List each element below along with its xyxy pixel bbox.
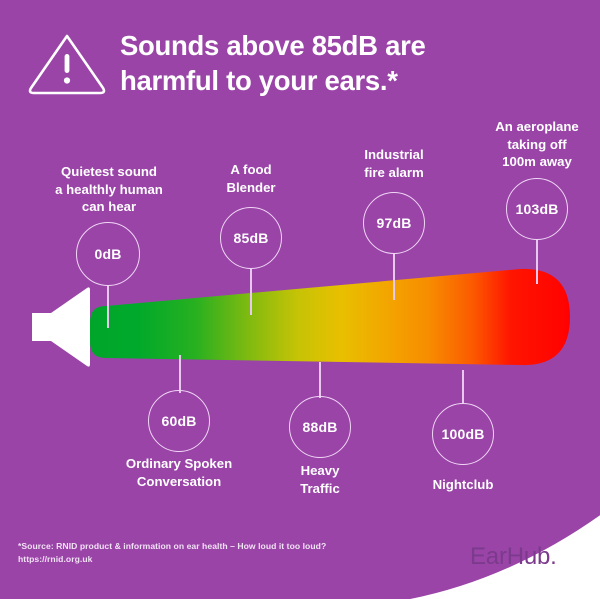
source-note: *Source: RNID product & information on e… (18, 540, 398, 567)
node-60db-caption-line-2: Conversation (104, 473, 254, 491)
title-line-1: Sounds above 85dB are (120, 28, 540, 63)
node-0db-value: 0dB (76, 222, 140, 286)
node-85db-stem (250, 269, 252, 315)
node-0db-caption-line-3: can hear (30, 198, 188, 216)
node-100db-stem (462, 370, 464, 404)
node-0db-stem (107, 286, 109, 328)
source-note-line-1: *Source: RNID product & information on e… (18, 540, 398, 553)
node-103db-stem (536, 240, 538, 284)
node-85db-value: 85dB (220, 207, 282, 269)
node-60db-caption-line-1: Ordinary Spoken (104, 455, 254, 473)
page-title: Sounds above 85dB are harmful to your ea… (120, 28, 540, 98)
node-85db-caption: A food Blender (196, 161, 306, 196)
source-note-line-2[interactable]: https://rnid.org.uk (18, 553, 398, 566)
node-60db-caption: Ordinary Spoken Conversation (104, 455, 254, 490)
node-88db-caption-line-2: Traffic (265, 480, 375, 498)
speaker-icon (32, 286, 94, 368)
warning-triangle-icon (24, 31, 110, 97)
title-line-2: harmful to your ears.* (120, 63, 540, 98)
node-97db-caption-line-1: Industrial (339, 146, 449, 164)
node-85db-caption-line-2: Blender (196, 179, 306, 197)
header: Sounds above 85dB are harmful to your ea… (0, 0, 600, 112)
node-97db-value: 97dB (363, 192, 425, 254)
node-103db-caption: An aeroplane taking off 100m away (478, 118, 596, 171)
node-103db-caption-line-1: An aeroplane (478, 118, 596, 136)
node-100db-caption: Nightclub (408, 476, 518, 494)
node-97db-stem (393, 254, 395, 300)
node-85db-caption-line-1: A food (196, 161, 306, 179)
node-100db-caption-line-1: Nightclub (408, 476, 518, 494)
node-60db-value: 60dB (148, 390, 210, 452)
node-88db-stem (319, 362, 321, 398)
earhub-logo-text: EarHub. (470, 543, 557, 570)
node-88db-caption: Heavy Traffic (265, 462, 375, 497)
node-0db-caption: Quietest sound a healthly human can hear (30, 163, 188, 216)
node-100db-value: 100dB (432, 403, 494, 465)
node-97db-caption: Industrial fire alarm (339, 146, 449, 181)
infographic-root: Sounds above 85dB are harmful to your ea… (0, 0, 600, 599)
node-0db-caption-line-2: a healthly human (30, 181, 188, 199)
node-88db-value: 88dB (289, 396, 351, 458)
node-103db-value: 103dB (506, 178, 568, 240)
node-60db-stem (179, 355, 181, 393)
node-103db-caption-line-2: taking off (478, 136, 596, 154)
node-97db-caption-line-2: fire alarm (339, 164, 449, 182)
earhub-logo: EarHub. (470, 541, 590, 571)
node-0db-caption-line-1: Quietest sound (30, 163, 188, 181)
node-88db-caption-line-1: Heavy (265, 462, 375, 480)
node-103db-caption-line-3: 100m away (478, 153, 596, 171)
